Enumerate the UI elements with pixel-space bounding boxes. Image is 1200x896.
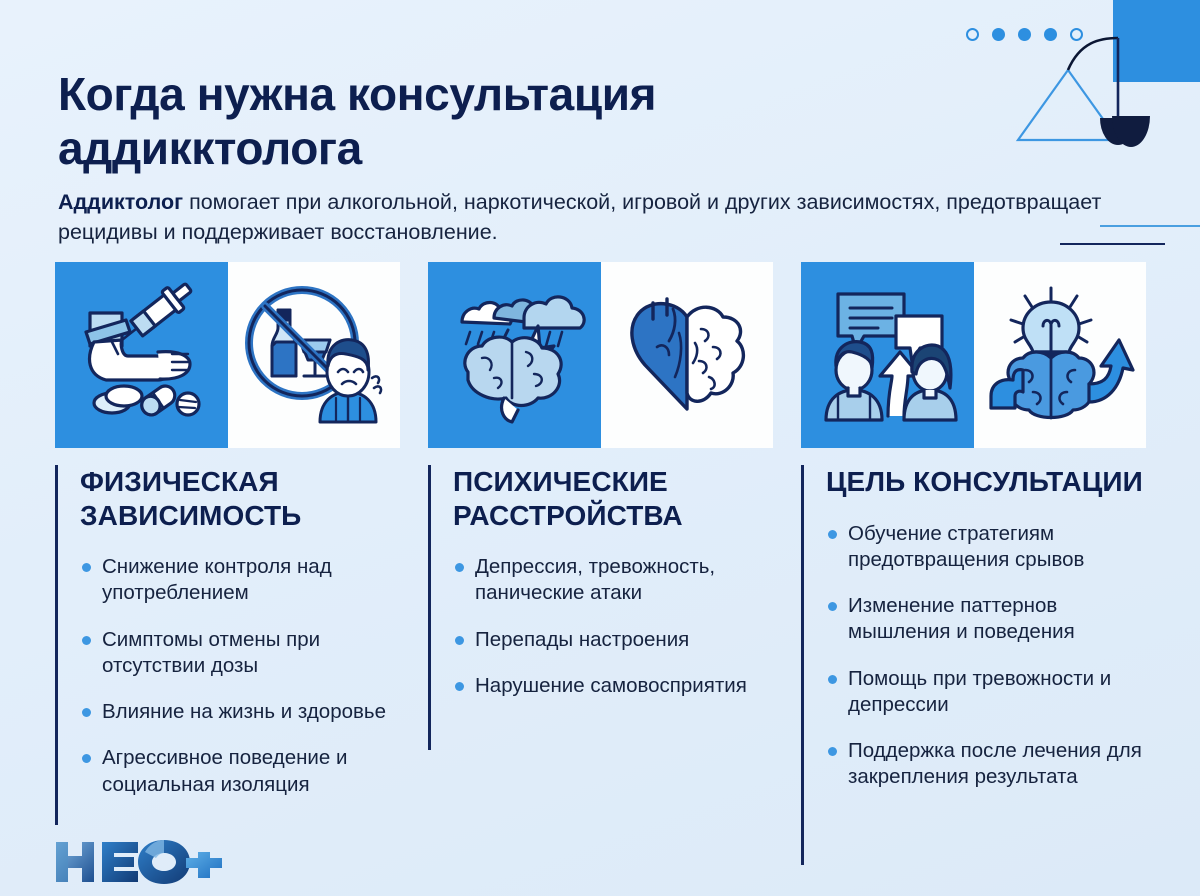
brain-lightbulb-arrows-icon <box>985 280 1135 430</box>
tile-no-alcohol-sad-person <box>228 262 401 448</box>
arm-with-syringe-and-pills-icon <box>66 280 216 430</box>
infographic-canvas: Когда нужна консультация аддикктолога Ад… <box>0 0 1200 896</box>
subtitle-bold-term: Аддиктолог <box>58 190 183 214</box>
tile-arm-syringe-pills <box>55 262 228 448</box>
column-heading: ФИЗИЧЕСКАЯ ЗАВИСИМОСТЬ <box>80 465 405 532</box>
column-heading: ПСИХИЧЕСКИЕ РАССТРОЙСТВА <box>453 465 778 532</box>
list-item: Депрессия, тревожность, панические атаки <box>453 554 778 606</box>
list-item: Изменение паттернов мышления и поведения <box>826 593 1161 645</box>
two-people-speech-bubbles-icon <box>812 280 962 430</box>
heart-brain-split-icon <box>617 285 757 425</box>
neo-plus-logo-icon <box>52 838 222 888</box>
page-title: Когда нужна консультация аддикктолога <box>58 67 918 176</box>
navy-half-disc-icon <box>1100 114 1160 176</box>
column-physical-dependence: ФИЗИЧЕСКАЯ ЗАВИСИМОСТЬ Снижение контроля… <box>55 465 405 825</box>
brand-logo <box>52 838 222 893</box>
curved-hook-line-icon <box>1068 38 1118 70</box>
list-item: Симптомы отмены при отсутствии дозы <box>80 627 405 679</box>
tile-storm-clouds-brain <box>428 262 601 448</box>
bullet-list: Снижение контроля над употреблением Симп… <box>80 554 405 798</box>
list-item: Снижение контроля над употреблением <box>80 554 405 606</box>
list-item: Агрессивное поведение и социальная изоля… <box>80 745 405 797</box>
dot-hollow-icon <box>966 28 979 41</box>
column-mental-disorders: ПСИХИЧЕСКИЕ РАССТРОЙСТВА Депрессия, трев… <box>428 465 778 750</box>
list-item: Перепады настроения <box>453 627 778 653</box>
list-item: Помощь при тревожности и депрессии <box>826 666 1161 718</box>
list-item: Обучение стратегиям предотвращения срыво… <box>826 521 1161 573</box>
illustration-group-goal <box>801 262 1146 448</box>
bullet-list: Депрессия, тревожность, панические атаки… <box>453 554 778 699</box>
page-subtitle: Аддиктолог помогает при алкогольной, нар… <box>58 187 1118 248</box>
no-alcohol-sad-person-icon <box>238 280 390 430</box>
tile-heart-brain-half <box>601 262 774 448</box>
list-item: Поддержка после лечения для закрепления … <box>826 738 1161 790</box>
tile-brain-lightbulb-arrows <box>974 262 1147 448</box>
list-item: Нарушение самовосприятия <box>453 673 778 699</box>
tile-people-speech-arrow <box>801 262 974 448</box>
column-consultation-goal: ЦЕЛЬ КОНСУЛЬТАЦИИ Обучение стратегиям пр… <box>801 465 1161 865</box>
bullet-list: Обучение стратегиям предотвращения срыво… <box>826 521 1161 791</box>
list-item: Влияние на жизнь и здоровье <box>80 699 405 725</box>
illustration-group-physical <box>55 262 400 448</box>
illustration-strip <box>0 262 1200 448</box>
subtitle-rest-text: помогает при алкогольной, наркотической,… <box>58 190 1101 245</box>
illustration-group-mental <box>428 262 773 448</box>
column-heading: ЦЕЛЬ КОНСУЛЬТАЦИИ <box>826 465 1161 499</box>
storm-cloud-over-brain-icon <box>438 280 590 430</box>
